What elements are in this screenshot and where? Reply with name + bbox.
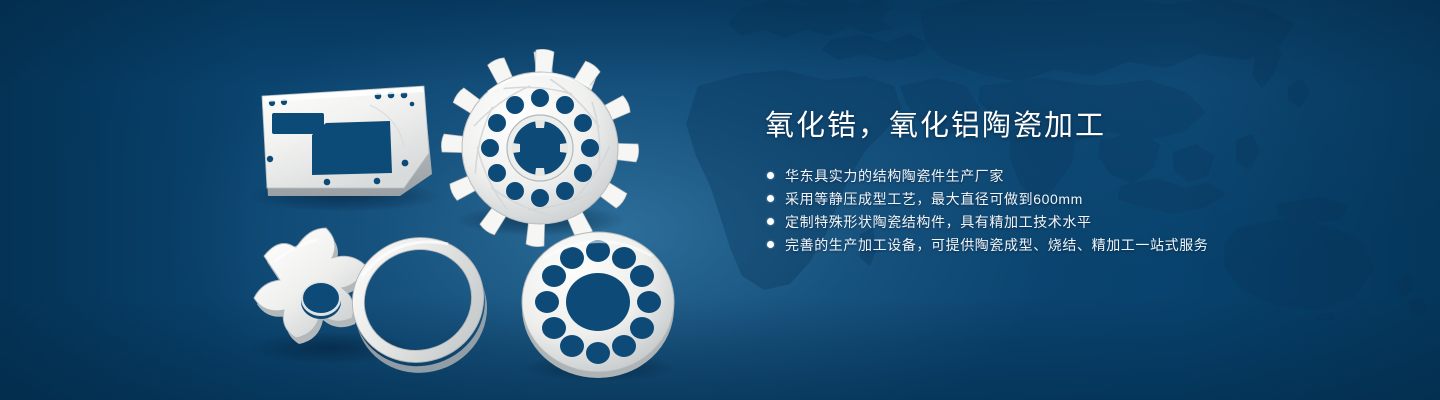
ceramic-cross-part-graphic	[254, 228, 369, 344]
feature-list: 华东具实力的结构陶瓷件生产厂家 采用等静压成型工艺，最大直径可做到600mm 定…	[765, 164, 1385, 256]
list-item: 华东具实力的结构陶瓷件生产厂家	[765, 164, 1385, 187]
bullet-dot-icon	[767, 241, 774, 248]
feature-text: 定制特殊形状陶瓷结构件，具有精加工技术水平	[785, 212, 1092, 232]
list-item: 完善的生产加工设备，可提供陶瓷成型、烧结、精加工一站式服务	[765, 233, 1385, 256]
bullet-dot-icon	[767, 195, 774, 202]
feature-text: 华东具实力的结构陶瓷件生产厂家	[785, 166, 1004, 186]
feature-text: 采用等静压成型工艺，最大直径可做到600mm	[785, 189, 1083, 209]
product-photo-cluster	[0, 0, 740, 400]
feature-text: 完善的生产加工设备，可提供陶瓷成型、烧结、精加工一站式服务	[785, 235, 1208, 255]
ceramic-perforated-disc-graphic	[522, 232, 674, 378]
ceramic-ring-graphic	[336, 221, 503, 390]
bullet-dot-icon	[767, 218, 774, 225]
bullet-dot-icon	[767, 172, 774, 179]
ceramic-plate-graphic	[262, 86, 432, 196]
list-item: 定制特殊形状陶瓷结构件，具有精加工技术水平	[765, 210, 1385, 233]
product-banner: 氧化锆，氧化铝陶瓷加工 华东具实力的结构陶瓷件生产厂家 采用等静压成型工艺，最大…	[0, 0, 1440, 400]
banner-text-block: 氧化锆，氧化铝陶瓷加工 华东具实力的结构陶瓷件生产厂家 采用等静压成型工艺，最大…	[765, 106, 1385, 256]
page-title: 氧化锆，氧化铝陶瓷加工	[765, 106, 1385, 146]
list-item: 采用等静压成型工艺，最大直径可做到600mm	[765, 187, 1385, 210]
